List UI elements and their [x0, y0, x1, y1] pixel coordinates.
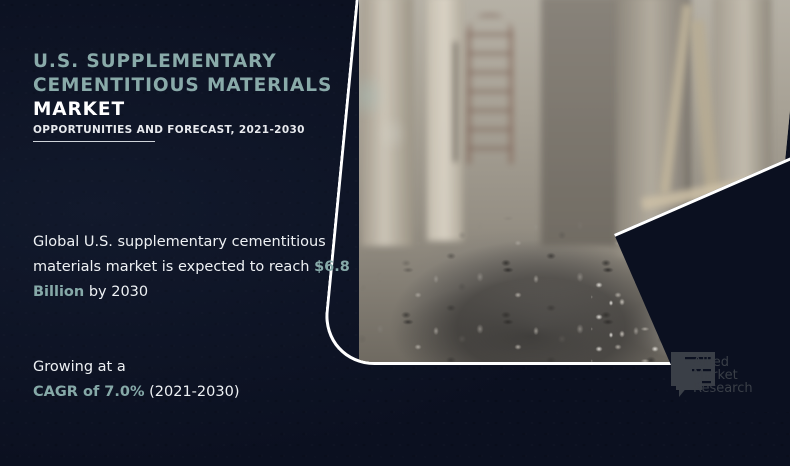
title-line-2: CEMENTITIOUS MATERIALS	[33, 75, 332, 96]
title-line-1: U.S. SUPPLEMENTARY	[33, 51, 277, 72]
background-rod	[454, 42, 457, 162]
logo-mark-icon: Allied Market Research	[668, 350, 780, 408]
cagr-figure: CAGR of 7.0%	[33, 384, 145, 400]
allied-market-research-logo: Allied Market Research	[668, 350, 780, 408]
market-value-statement: Global U.S. supplementary cementitious m…	[33, 230, 363, 305]
cagr-statement: Growing at a CAGR of 7.0% (2021-2030)	[33, 355, 363, 405]
text-column: U.S. SUPPLEMENTARY CEMENTITIOUS MATERIAL…	[0, 0, 360, 466]
background-graffiti	[359, 56, 415, 166]
market-value-tail: by 2030	[84, 284, 148, 300]
cagr-period: (2021-2030)	[145, 384, 240, 400]
cagr-lead: Growing at a	[33, 359, 126, 375]
logo-text-line-3: Research	[693, 381, 753, 396]
subtitle-underline	[33, 141, 155, 142]
title-line-3: MARKET	[33, 98, 353, 122]
background-ladder	[467, 14, 513, 164]
page-title: U.S. SUPPLEMENTARY CEMENTITIOUS MATERIAL…	[33, 50, 353, 122]
subtitle: OPPORTUNITIES AND FORECAST, 2021-2030	[33, 124, 305, 136]
market-report-banner: U.S. SUPPLEMENTARY CEMENTITIOUS MATERIAL…	[0, 0, 790, 466]
market-value-lead: Global U.S. supplementary cementitious m…	[33, 234, 326, 275]
